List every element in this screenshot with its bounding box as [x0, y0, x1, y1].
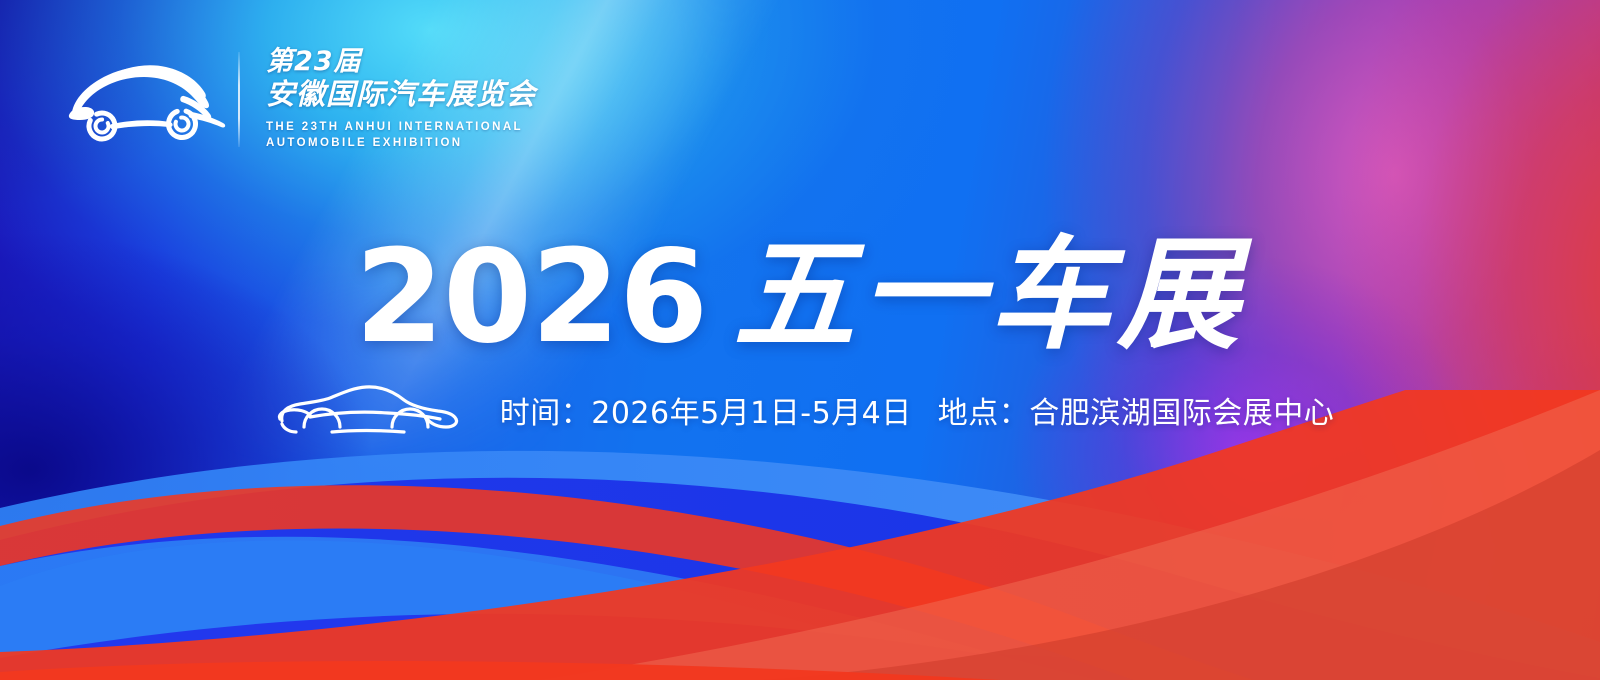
title-year: 2026	[355, 243, 707, 353]
sports-car-outline-icon	[266, 375, 466, 445]
logo-edition-cn: 第23届	[266, 47, 536, 77]
event-datetime-venue: 时间：2026年5月1日-5月4日地点：合肥滨湖国际会展中心	[500, 388, 1335, 432]
date-label: 时间：	[500, 396, 592, 431]
poster-info-row: 时间：2026年5月1日-5月4日地点：合肥滨湖国际会展中心	[0, 375, 1600, 445]
poster-title: 2026 五一车展	[0, 238, 1600, 353]
logo-name-cn: 安徽国际汽车展览会	[266, 78, 536, 111]
exhibition-poster: 第23届 安徽国际汽车展览会 THE 23TH ANHUI INTERNATIO…	[0, 0, 1600, 680]
logo-name-en-line1: THE 23TH ANHUI INTERNATIONAL	[266, 119, 536, 136]
logo-divider	[238, 52, 240, 147]
logo-text-block: 第23届 安徽国际汽车展览会 THE 23TH ANHUI INTERNATIO…	[266, 47, 536, 152]
event-logo-block: 第23届 安徽国际汽车展览会 THE 23TH ANHUI INTERNATIO…	[60, 47, 536, 152]
title-event-name: 五一车展	[733, 238, 1245, 353]
date-value: 2026年5月1日-5月4日	[591, 396, 912, 431]
logo-name-en: THE 23TH ANHUI INTERNATIONAL AUTOMOBILE …	[266, 119, 536, 152]
venue-label: 地点：	[938, 396, 1030, 431]
brushed-car-logo-icon	[60, 52, 230, 147]
venue-value: 合肥滨湖国际会展中心	[1029, 396, 1334, 431]
logo-name-en-line2: AUTOMOBILE EXHIBITION	[266, 135, 536, 152]
